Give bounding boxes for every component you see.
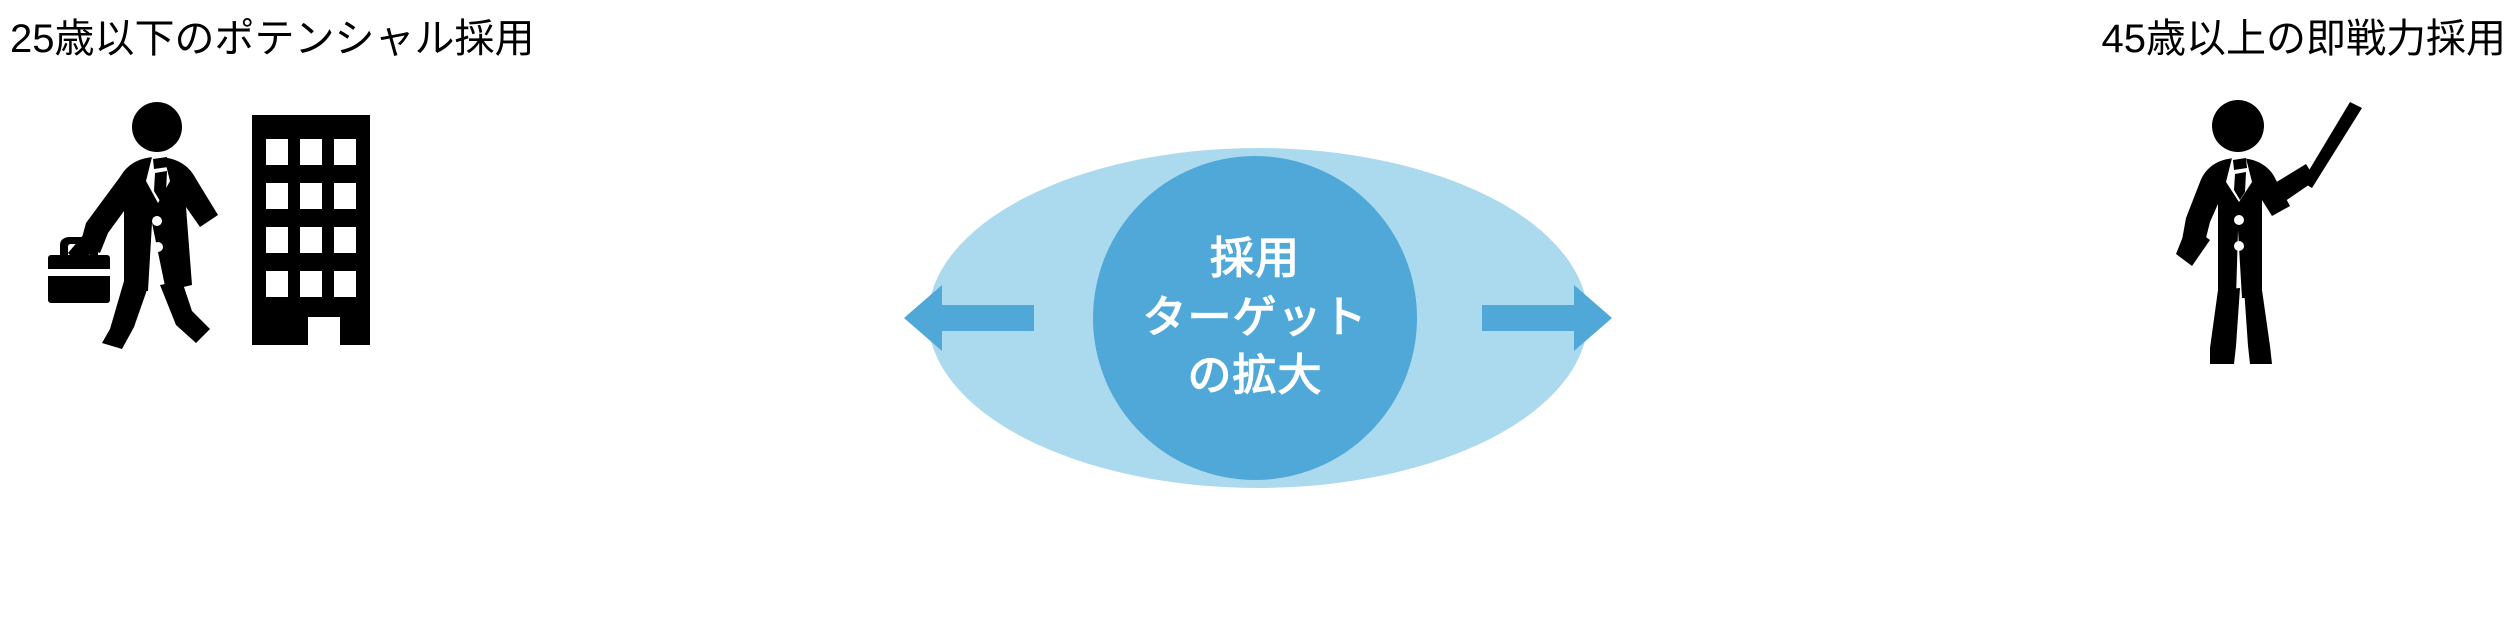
left-heading: 25歳以下のポテンシャル採用	[10, 14, 535, 64]
office-building-icon	[252, 115, 370, 345]
right-arrow-icon	[1482, 281, 1612, 355]
right-icon-svg	[2166, 90, 2396, 370]
slide-canvas: 25歳以下のポテンシャル採用 45歳以上の即戦力採用	[0, 0, 2516, 636]
center-diagram: 採用 ターゲット の拡大	[928, 148, 1588, 488]
businessman-with-pointer-icon	[2176, 100, 2362, 364]
left-icon-group	[40, 95, 400, 355]
center-label-line-2: ターゲット	[1143, 289, 1368, 348]
right-icon-group	[2166, 90, 2396, 370]
center-label: 採用 ターゲット の拡大	[1093, 156, 1417, 480]
right-heading: 45歳以上の即戦力採用	[2102, 14, 2507, 64]
center-label-line-3: の拡大	[1188, 347, 1323, 406]
left-arrow-icon	[904, 281, 1034, 355]
walking-businessman-icon	[68, 102, 218, 349]
center-label-line-1: 採用	[1210, 230, 1300, 289]
left-icon-svg	[40, 95, 400, 355]
